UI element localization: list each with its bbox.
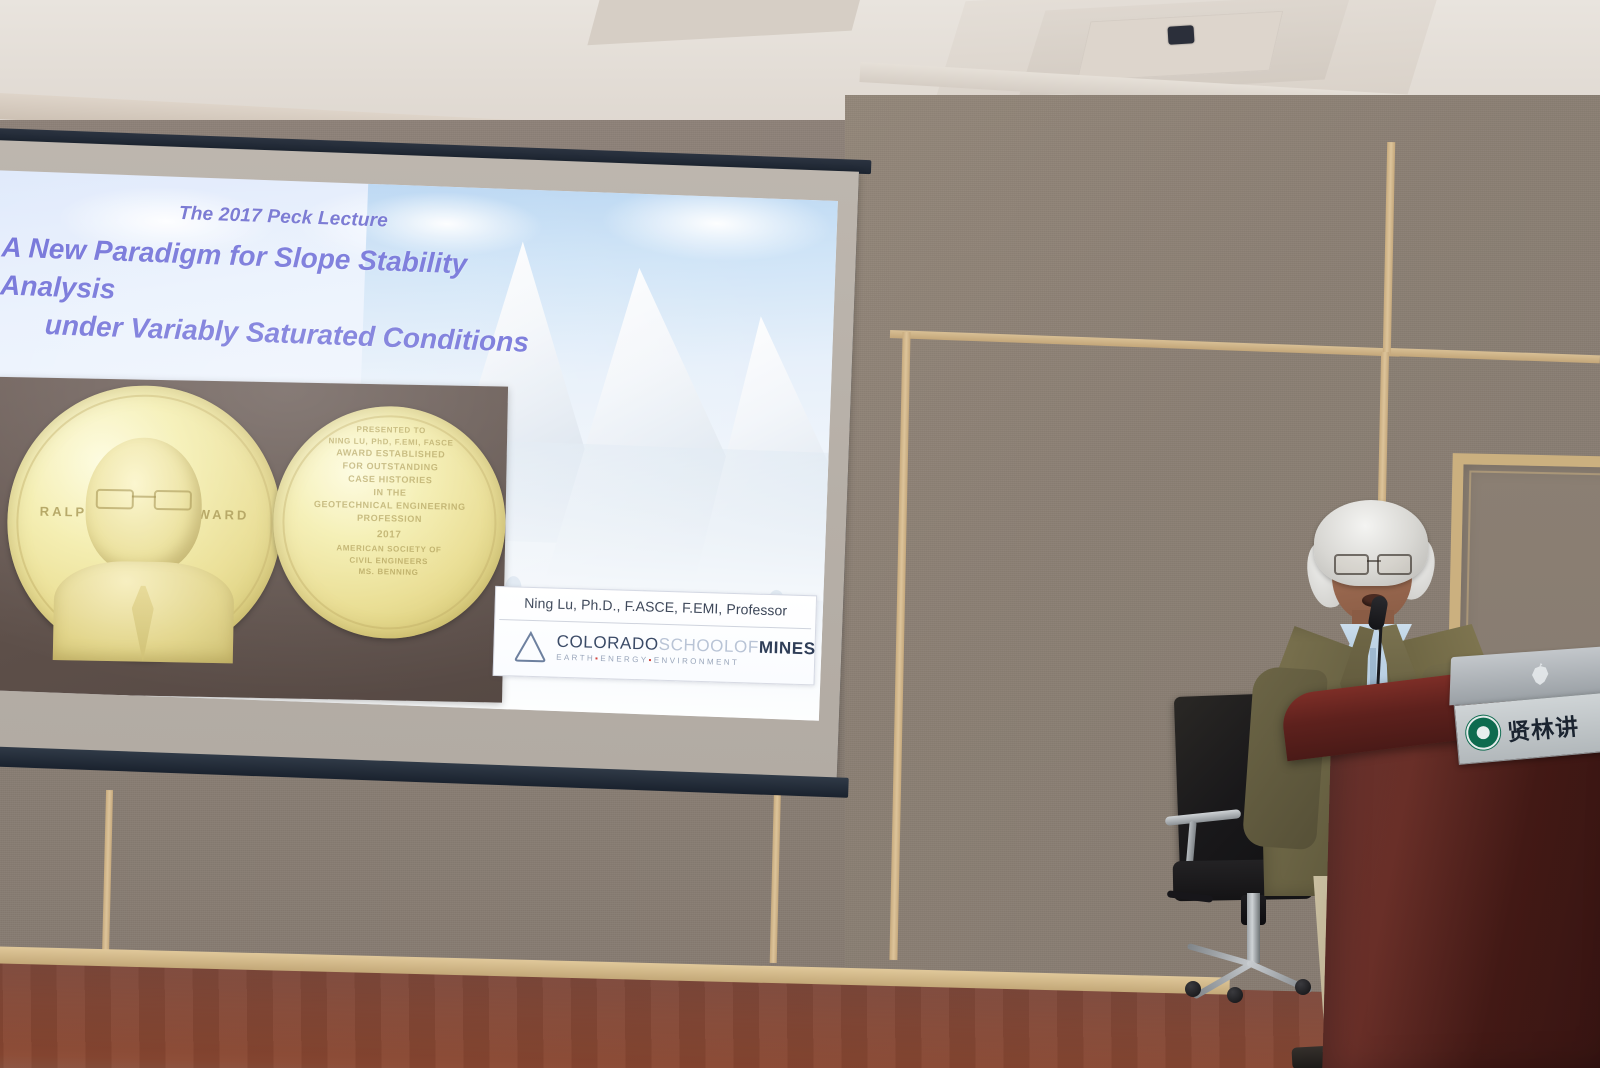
tagline-earth: EARTH [556,653,595,663]
screen-surface: The 2017 Peck Lecture A New Paradigm for… [0,140,859,783]
slide-title-line2: under Variably Saturated Conditions [0,304,579,363]
ceiling-sensor-icon [1167,25,1194,45]
speaker-credit-text: Ning Lu, Ph.D., F.ASCE, F.EMI, Professor [496,594,816,619]
peck-portrait-glasses-icon [96,489,192,507]
peck-medal-obverse: RALPH B. PECK AWARD [5,383,284,662]
speaker-glasses-icon [1332,554,1414,571]
presentation-slide: The 2017 Peck Lecture A New Paradigm for… [0,170,838,720]
projection-screen: The 2017 Peck Lecture A New Paradigm for… [0,128,871,810]
slide-title-line1: A New Paradigm for Slope Stability Analy… [0,231,468,304]
credit-divider [499,619,811,629]
slide-title: A New Paradigm for Slope Stability Analy… [0,228,582,363]
speaker-credit-box: Ning Lu, Ph.D., F.ASCE, F.EMI, Professor… [493,586,818,686]
chair-caster-1 [1185,981,1201,997]
glasses-lens-left [96,489,134,510]
peck-medal-reverse: PRESENTED TO NING LU, PhD, F.EMI, FASCE … [271,404,507,640]
logo-word-school: SCHOOL [658,635,734,656]
speaker-lens-left [1334,554,1369,575]
lecture-hall-photo: The 2017 Peck Lecture A New Paradigm for… [0,0,1600,1068]
tagline-energy: ENERGY [600,654,648,664]
ceiling-panel-left [587,0,872,45]
tagline-environment: ENVIRONMENT [654,656,740,668]
medal-photo-panel: RALPH B. PECK AWARD [0,377,508,703]
glasses-bridge [132,495,156,497]
ceiling-panel-right [1077,11,1284,82]
logo-word-mines: MINES [759,638,816,659]
glasses-lens-right [154,490,192,511]
apple-logo-icon [1530,662,1551,686]
mountain-cloud-2 [596,184,838,267]
medal-reverse-inscription: PRESENTED TO NING LU, PhD, F.EMI, FASCE … [272,422,507,580]
mines-triangle-mark-icon [512,629,549,664]
university-seal-emblem-icon [1465,714,1502,751]
podium-sign-text: 贤林讲 [1506,707,1581,747]
logo-word-colorado: COLORADO [556,632,659,654]
logo-word-of: OF [734,637,759,657]
speaker-lens-right [1377,554,1412,575]
podium-sign: 贤林讲 [1454,691,1600,765]
